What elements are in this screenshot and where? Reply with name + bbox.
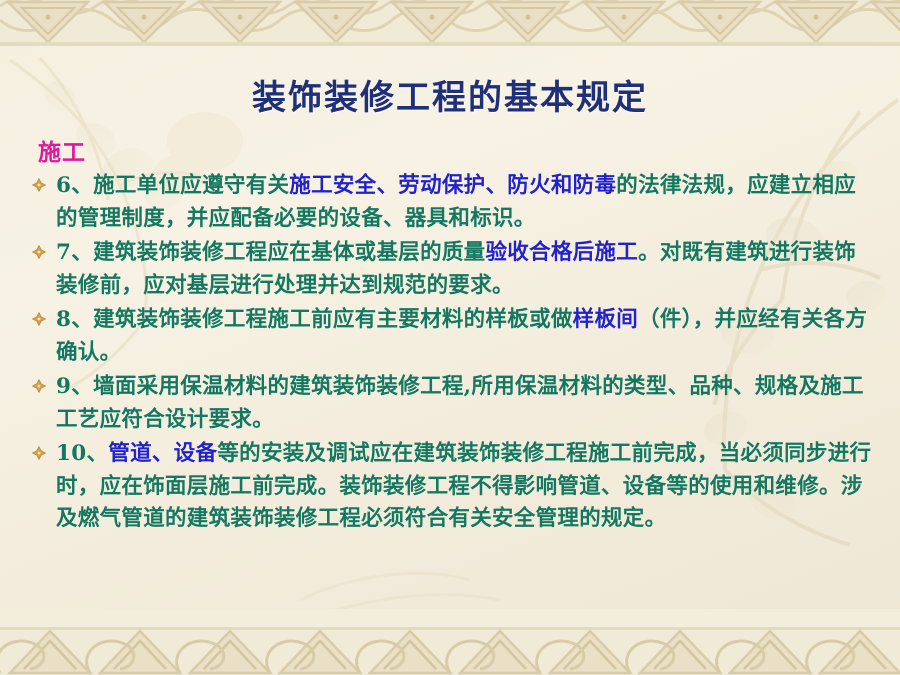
diamond-bullet-icon <box>32 170 56 195</box>
bullet-item: 10、管道、设备等的安装及调试应在建筑装饰装修工程施工前完成，当必须同步进行时，… <box>32 438 877 536</box>
bullet-item-number: 8、 <box>56 307 93 332</box>
top-ornamental-border <box>0 0 900 46</box>
bullet-item: 8、建筑装饰装修工程施工前应有主要材料的样板或做样板间（件），并应经有关各方确认… <box>32 304 877 369</box>
bullet-text-segment: 施工安全、劳动保护、防火和防毒 <box>289 173 616 198</box>
bullet-item-text: 7、建筑装饰装修工程应在基体或基层的质量验收合格后施工。对既有建筑进行装饰装修前… <box>56 237 877 302</box>
bullet-list: 6、施工单位应遵守有关施工安全、劳动保护、防火和防毒的法律法规，应建立相应的管理… <box>32 170 877 538</box>
bullet-text-segment: 建筑装饰装修工程施工前应有主要材料的样板或做 <box>93 307 573 332</box>
bullet-item-text: 10、管道、设备等的安装及调试应在建筑装饰装修工程施工前完成，当必须同步进行时，… <box>56 438 877 536</box>
diamond-bullet-icon <box>32 371 56 396</box>
bullet-item-number: 6、 <box>56 173 93 198</box>
bullet-text-segment: 建筑装饰装修工程应在基体或基层的质量 <box>93 240 485 265</box>
bullet-item-number: 10、 <box>56 441 108 466</box>
bullet-text-segment: 样板间 <box>573 307 638 332</box>
bullet-item-number: 9、 <box>56 374 93 399</box>
bullet-item-text: 6、施工单位应遵守有关施工安全、劳动保护、防火和防毒的法律法规，应建立相应的管理… <box>56 170 877 235</box>
slide-subtitle: 施工 <box>38 133 86 167</box>
bullet-item-number: 7、 <box>56 240 93 265</box>
bullet-text-segment: 管道、设备 <box>108 441 217 466</box>
bullet-text-segment: 施工单位应遵守有关 <box>93 173 289 198</box>
slide-title: 装饰装修工程的基本规定 <box>0 70 900 119</box>
diamond-bullet-icon <box>32 237 56 262</box>
bullet-item-text: 9、墙面采用保温材料的建筑装饰装修工程,所用保温材料的类型、品种、规格及施工工艺… <box>56 371 877 436</box>
bullet-item: 9、墙面采用保温材料的建筑装饰装修工程,所用保温材料的类型、品种、规格及施工工艺… <box>32 371 877 436</box>
presentation-slide: 装饰装修工程的基本规定 施工 6、施工单位应遵守有关施工安全、劳动保护、防火和防… <box>0 0 900 675</box>
bullet-text-segment: 验收合格后施工 <box>485 240 638 265</box>
bottom-ornamental-border <box>0 609 900 675</box>
diamond-bullet-icon <box>32 304 56 329</box>
bullet-item-text: 8、建筑装饰装修工程施工前应有主要材料的样板或做样板间（件），并应经有关各方确认… <box>56 304 877 369</box>
bullet-text-segment: 墙面采用保温材料的建筑装饰装修工程,所用保温材料的类型、品种、规格及施工工艺应符… <box>56 374 864 432</box>
bullet-item: 6、施工单位应遵守有关施工安全、劳动保护、防火和防毒的法律法规，应建立相应的管理… <box>32 170 877 235</box>
diamond-bullet-icon <box>32 438 56 463</box>
bullet-item: 7、建筑装饰装修工程应在基体或基层的质量验收合格后施工。对既有建筑进行装饰装修前… <box>32 237 877 302</box>
